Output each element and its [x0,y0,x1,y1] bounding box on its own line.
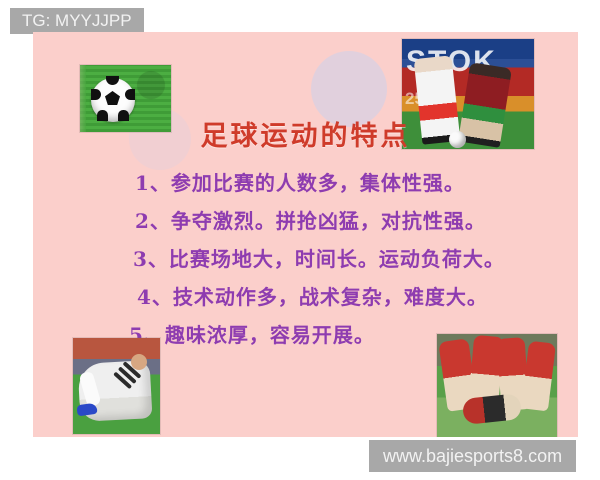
photo-injured-player-sitting [73,338,160,434]
bullet-item-2: 2、争夺激烈。拼抢凶猛，对抗性强。 [33,202,578,240]
photo-players-scramble [437,334,557,437]
watermark-top-left-text: TG: MYYJJPP [22,11,132,31]
watermark-bottom-right: www.bajiesports8.com [369,440,576,472]
bullet-item-3: 3、比赛场地大，时间长。运动负荷大。 [33,240,578,278]
bullet-item-1: 1、参加比赛的人数多，集体性强。 [33,164,578,202]
watermark-site-url: www.bajiesports8.com [383,446,562,467]
bullet-list: 1、参加比赛的人数多，集体性强。 2、争夺激烈。拼抢凶猛，对抗性强。 3、比赛场… [33,164,578,354]
presentation-slide: STOK 25 足球运动的特点 1、参加比赛的人数多，集体性强。 2、争夺激烈。… [33,32,578,437]
watermark-top-left: TG: MYYJJPP [10,8,144,34]
slide-title: 足球运动的特点 [33,114,578,153]
player-head [131,354,147,370]
bullet-item-4: 4、技术动作多，战术复杂，难度大。 [33,278,578,316]
